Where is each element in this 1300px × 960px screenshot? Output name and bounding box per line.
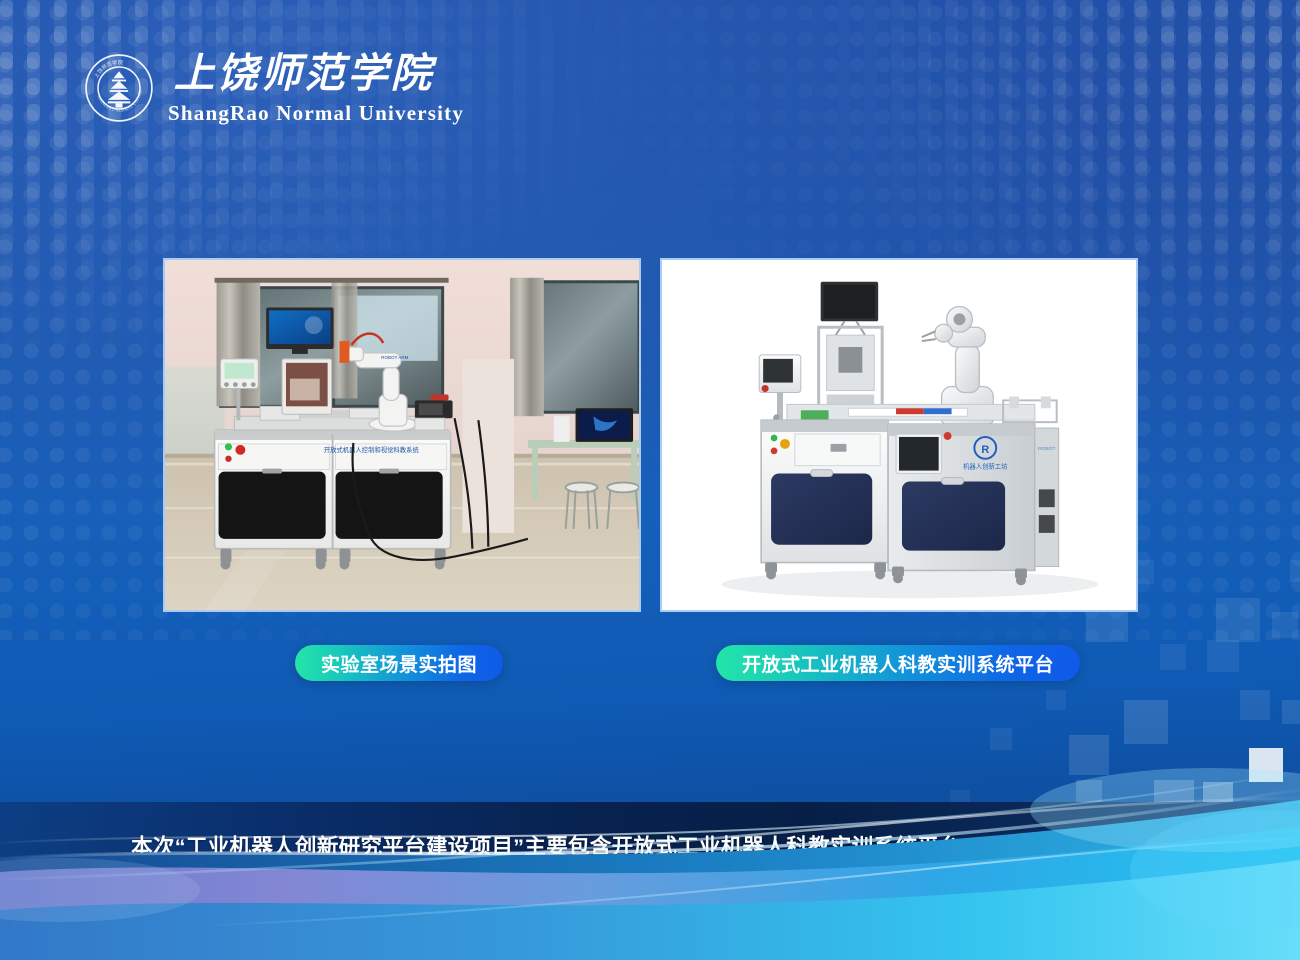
photo-gallery: 开放式机器人控制和视觉科教系统 bbox=[163, 258, 1138, 612]
svg-text:ROBOT ARM: ROBOT ARM bbox=[381, 355, 408, 360]
project-description: 本次“工业机器人创新研究平台建设项目”主要包含开放式工业机器人科教实训系统平台，… bbox=[0, 832, 1300, 922]
university-seal-icon: 上饶师范学院 SHANGRAO NORMAL COLLEGE bbox=[84, 53, 154, 123]
logo-wordmark: 上饶师范学院 ShangRao Normal University bbox=[168, 50, 484, 126]
machine-label-left: 开放式机器人控制和视觉科教系统 bbox=[324, 445, 420, 454]
caption-pill-platform[interactable]: 开放式工业机器人科教实训系统平台 bbox=[716, 645, 1080, 681]
logo-name-en: ShangRao Normal University bbox=[168, 101, 484, 126]
presentation-slide: 上饶师范学院 SHANGRAO NORMAL COLLEGE 上饶师范学院 Sh… bbox=[0, 0, 1300, 960]
svg-text:R: R bbox=[981, 444, 989, 456]
university-logo: 上饶师范学院 SHANGRAO NORMAL COLLEGE 上饶师范学院 Sh… bbox=[84, 50, 484, 126]
training-platform-render[interactable]: R 机器人创新工坊 ROBOT bbox=[660, 258, 1138, 612]
svg-text:ROBOT: ROBOT bbox=[1038, 446, 1056, 452]
laboratory-scene-photo[interactable]: 开放式机器人控制和视觉科教系统 bbox=[163, 258, 641, 612]
project-description-text: 本次“工业机器人创新研究平台建设项目”主要包含开放式工业机器人科教实训系统平台，… bbox=[88, 835, 1212, 919]
caption-pill-laboratory[interactable]: 实验室场景实拍图 bbox=[295, 645, 503, 681]
machine-label-right: 机器人创新工坊 bbox=[963, 462, 1008, 471]
svg-text:上饶师范学院: 上饶师范学院 bbox=[174, 51, 438, 96]
photo-captions: 实验室场景实拍图 开放式工业机器人科教实训系统平台 bbox=[163, 645, 1138, 681]
logo-name-cn: 上饶师范学院 bbox=[168, 50, 484, 98]
